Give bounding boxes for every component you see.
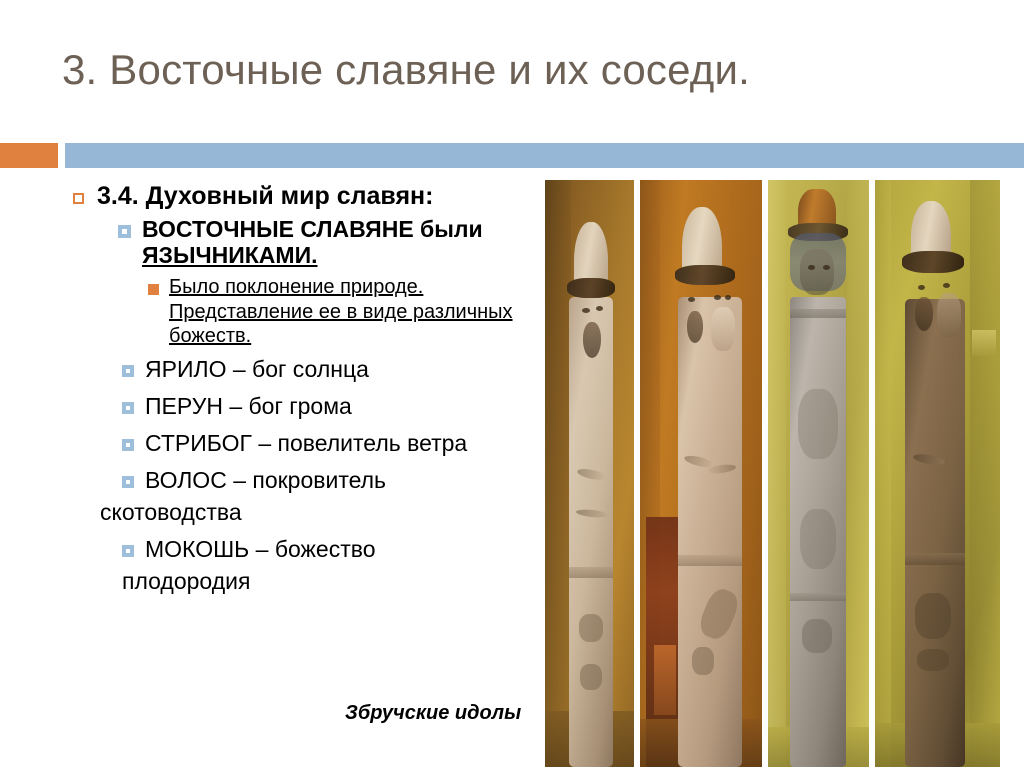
bullet-square-outline-icon: [73, 193, 84, 204]
deity-text: СТРИБОГ – повелитель ветра: [145, 429, 540, 459]
subheading-text: ВОСТОЧНЫЕ СЛАВЯНЕ были ЯЗЫЧНИКАМИ.: [142, 216, 540, 270]
list-item-deity: СТРИБОГ – повелитель ветра: [60, 429, 540, 459]
list-item-heading: 3.4. Духовный мир славян:: [60, 182, 540, 212]
accent-bar-blue: [65, 143, 1024, 168]
content-list: 3.4. Духовный мир славян: ВОСТОЧНЫЕ СЛАВ…: [60, 182, 540, 597]
bullet-square-blue-icon: [122, 476, 134, 488]
list-item-deity: ПЕРУН – бог грома: [60, 392, 540, 422]
subheading-part-2-underlined: ЯЗЫЧНИКАМИ.: [142, 242, 318, 268]
photo-panel-4: [875, 180, 1000, 767]
bullet-square-blue-icon: [118, 225, 131, 238]
photo-panel-1: [545, 180, 634, 767]
list-item-note: Было поклонение природе. Представление е…: [60, 275, 540, 348]
list-item-deity: ЯРИЛО – бог солнца: [60, 355, 540, 385]
bullet-square-blue-icon: [122, 545, 134, 557]
accent-bar-orange: [0, 143, 58, 168]
note-text: Было поклонение природе. Представление е…: [169, 275, 540, 348]
page-title: 3. Восточные славяне и их соседи.: [62, 46, 962, 93]
slide: 3. Восточные славяне и их соседи. 3.4. Д…: [0, 0, 1024, 767]
deity-text-continuation: плодородия: [122, 567, 540, 597]
deity-text: ВОЛОС – покровитель: [145, 466, 540, 496]
figure-caption: Збручские идолы: [345, 702, 521, 725]
list-item-subheading: ВОСТОЧНЫЕ СЛАВЯНЕ были ЯЗЫЧНИКАМИ.: [60, 216, 540, 270]
bullet-square-blue-icon: [122, 402, 134, 414]
list-item-deity: МОКОШЬ – божество: [60, 535, 540, 565]
list-item-deity: ВОЛОС – покровитель: [60, 466, 540, 496]
deity-text: МОКОШЬ – божество: [145, 535, 540, 565]
bullet-square-filled-orange-icon: [148, 284, 159, 295]
deity-text: ЯРИЛО – бог солнца: [145, 355, 540, 385]
figure-image-zbruch-idols: [545, 180, 1000, 767]
subheading-part-1: ВОСТОЧНЫЕ СЛАВЯНЕ были: [142, 216, 483, 242]
photo-panel-3: [768, 180, 869, 767]
bullet-square-blue-icon: [122, 365, 134, 377]
photo-panel-2: [640, 180, 762, 767]
bullet-square-blue-icon: [122, 439, 134, 451]
heading-text: 3.4. Духовный мир славян:: [97, 182, 540, 212]
deity-text-continuation: скотоводства: [100, 498, 540, 528]
deity-text: ПЕРУН – бог грома: [145, 392, 540, 422]
